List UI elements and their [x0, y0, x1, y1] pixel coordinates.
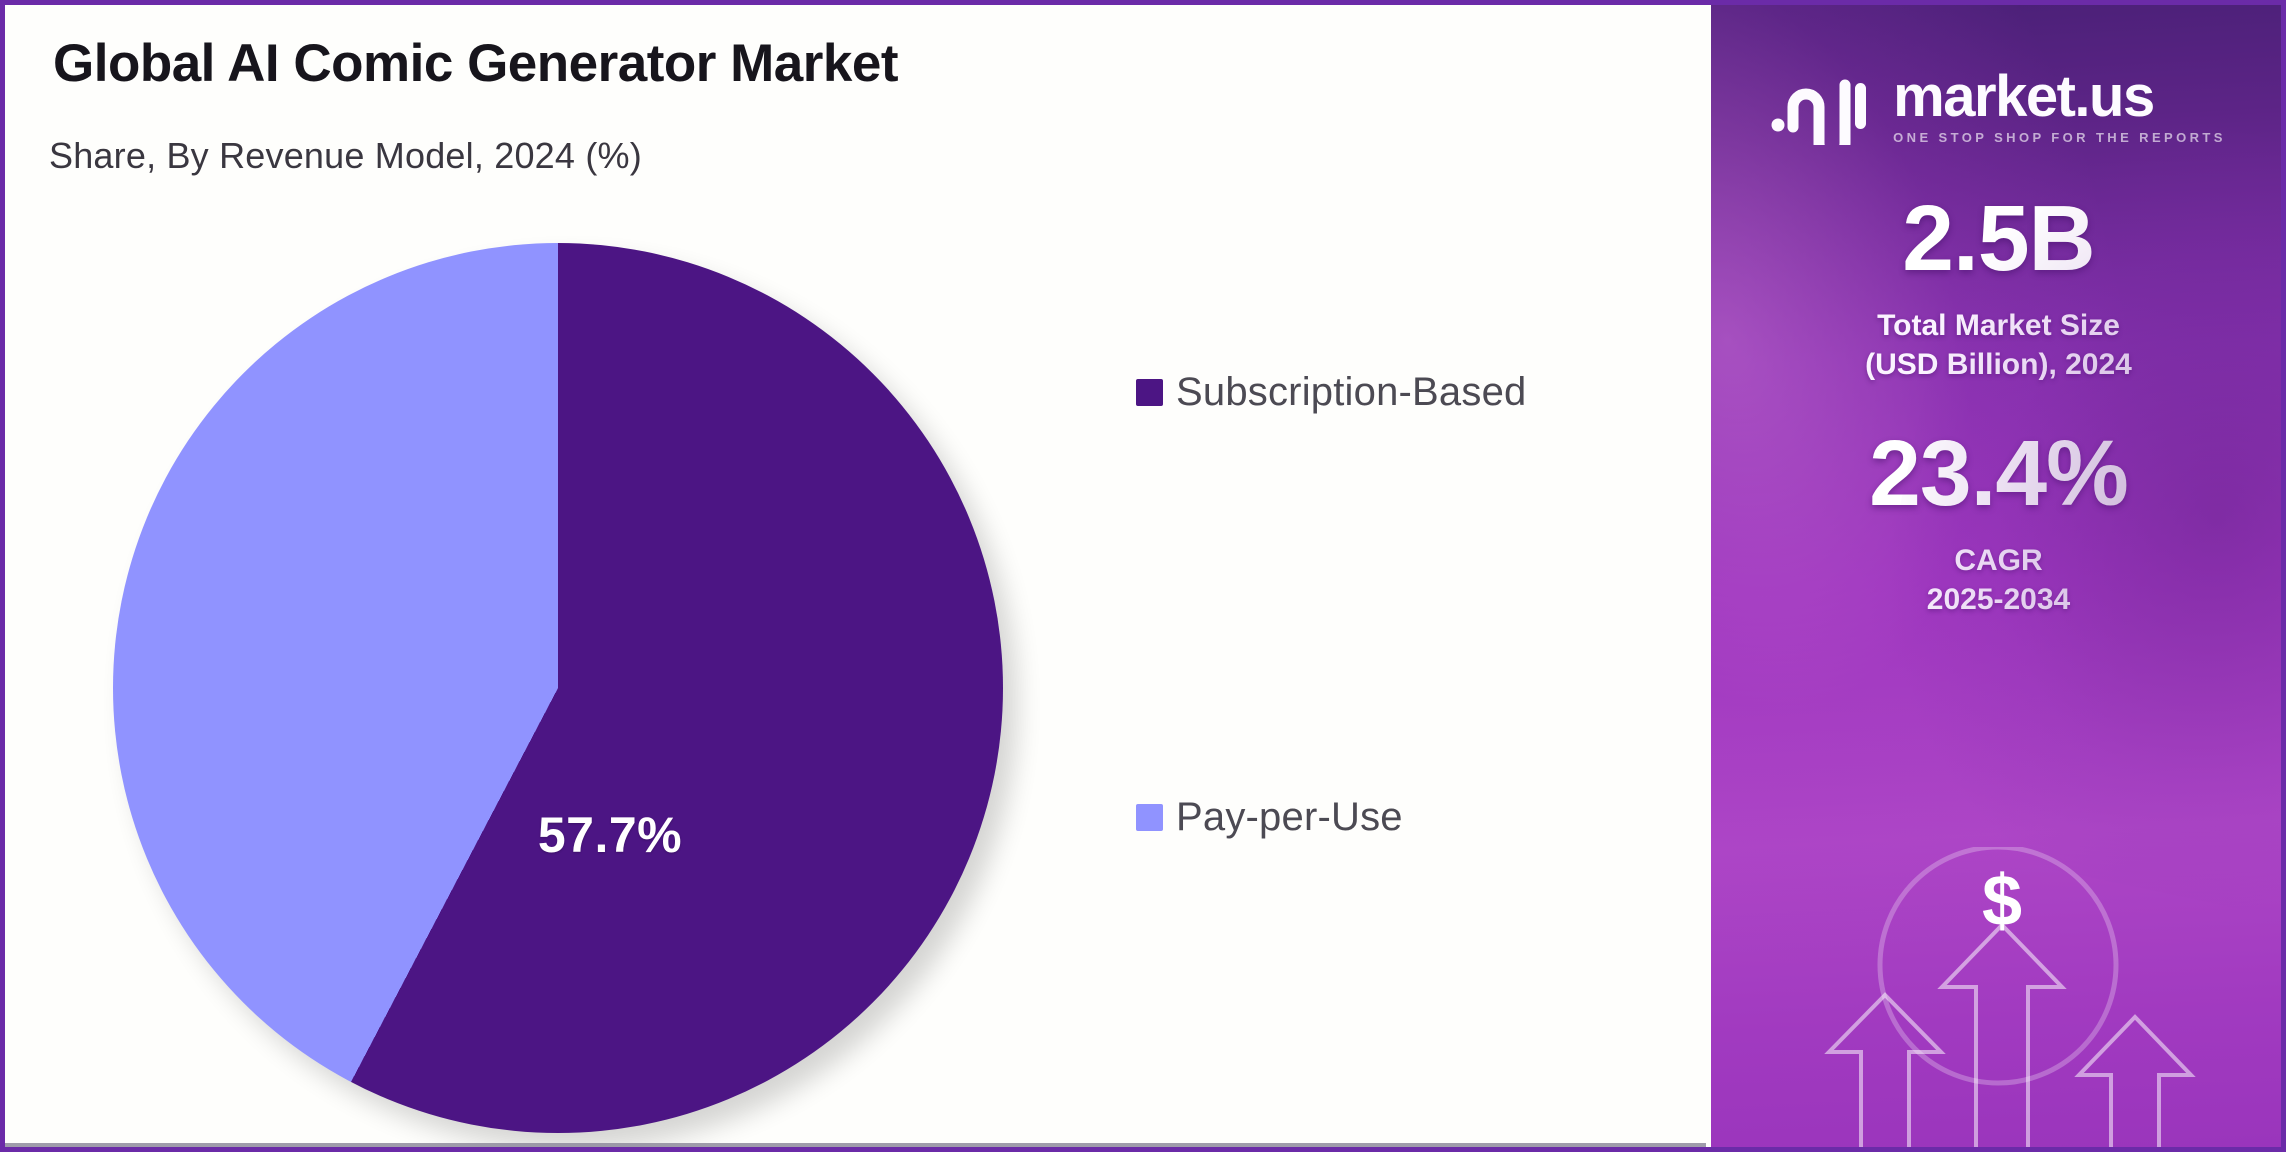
stat-caption: CAGR 2025-2034 [1711, 541, 2286, 620]
stat-cagr: 23.4% CAGR 2025-2034 [1711, 425, 2286, 620]
pie-chart: 57.7% [113, 243, 1003, 1133]
stat-caption-line2: (USD Billion), 2024 [1711, 345, 2286, 385]
brand-logo: market.us ONE STOP SHOP FOR THE REPORTS [1711, 67, 2286, 145]
market-report-figure: Global AI Comic Generator Market Share, … [0, 0, 2286, 1152]
brand-tagline: ONE STOP SHOP FOR THE REPORTS [1893, 131, 2226, 144]
page-title: Global AI Comic Generator Market [53, 33, 898, 94]
legend-item-label: Pay-per-Use [1176, 795, 1403, 840]
stat-caption-line1: CAGR [1711, 541, 2286, 581]
growth-arrows-icon: $ [1711, 847, 2286, 1147]
stat-total-market-size: 2.5B Total Market Size (USD Billion), 20… [1711, 190, 2286, 385]
stat-value: 2.5B [1711, 190, 2286, 288]
legend-item-label: Subscription-Based [1176, 370, 1526, 415]
legend-item-subscription-based[interactable]: Subscription-Based [1136, 370, 1526, 415]
stat-caption-line2: 2025-2034 [1711, 580, 2286, 620]
page-subtitle: Share, By Revenue Model, 2024 (%) [49, 135, 642, 177]
chart-panel: Global AI Comic Generator Market Share, … [5, 5, 1706, 1147]
market-us-logo-icon [1771, 67, 1875, 145]
dollar-symbol: $ [1982, 861, 2022, 941]
stat-caption-line1: Total Market Size [1711, 306, 2286, 346]
stat-caption: Total Market Size (USD Billion), 2024 [1711, 306, 2286, 385]
legend-swatch-icon [1136, 804, 1163, 831]
brand-name: market.us [1893, 68, 2226, 126]
pie-data-label-subscription: 57.7% [538, 806, 682, 864]
legend-swatch-icon [1136, 379, 1163, 406]
legend-item-pay-per-use[interactable]: Pay-per-Use [1136, 795, 1403, 840]
pie-data-label-layer: 57.7% [113, 243, 1003, 1133]
stat-value: 23.4% [1711, 425, 2286, 523]
stats-sidebar: market.us ONE STOP SHOP FOR THE REPORTS … [1711, 5, 2286, 1147]
